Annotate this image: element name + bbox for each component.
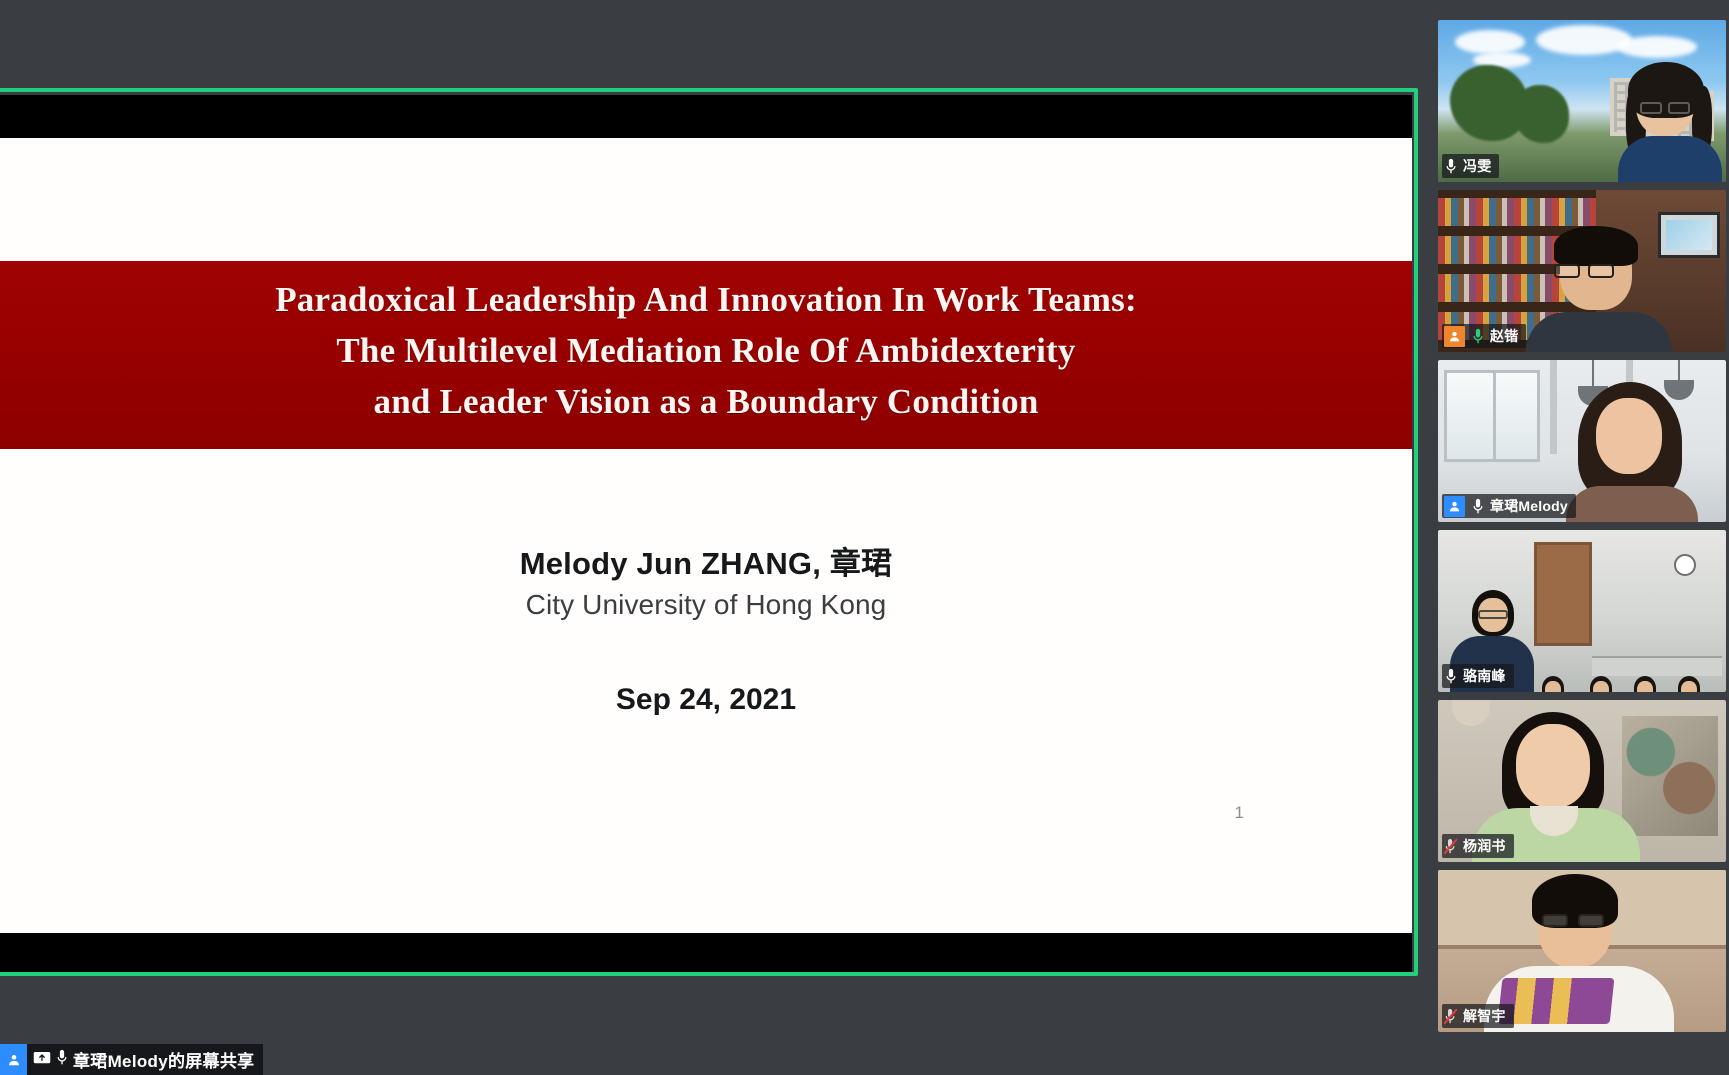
share-pill-body: 章珺Melody的屏幕共享 [27,1044,263,1075]
participant-nameplate: 章珺Melody [1442,494,1576,518]
microphone-muted-icon [1442,1006,1459,1026]
participant-tile[interactable]: 章珺Melody [1438,360,1726,522]
participant-tile[interactable]: 骆南峰 [1438,530,1726,692]
person-icon [1444,496,1465,517]
participant-nameplate: 骆南峰 [1442,664,1514,688]
participant-name: 骆南峰 [1463,666,1506,686]
screen-share-status-bar[interactable]: 章珺Melody的屏幕共享 [0,1044,263,1075]
microphone-icon [1469,496,1486,516]
participant-tile[interactable]: 杨润书 [1438,700,1726,862]
microphone-muted-icon [1442,836,1459,856]
share-pill-label: 章珺Melody的屏幕共享 [73,1047,254,1072]
participant-name: 解智宇 [1463,1006,1506,1026]
participant-tile[interactable]: 冯雯 [1438,20,1726,182]
person-icon [0,1044,27,1075]
microphone-icon [1442,666,1459,686]
participant-name: 冯雯 [1463,156,1491,176]
participant-nameplate: 赵锴 [1442,324,1526,348]
microphone-icon [1442,156,1459,176]
participant-tile[interactable]: 解智宇 [1438,870,1726,1032]
shared-screen-stage[interactable]: Paradoxical Leadership And Innovation In… [0,0,1435,1075]
participant-nameplate: 解智宇 [1442,1004,1514,1028]
participant-name: 赵锴 [1490,326,1518,346]
microphone-icon [56,1049,68,1071]
participant-name: 杨润书 [1463,836,1506,856]
screen-share-green-border [0,88,1418,976]
participant-tile[interactable]: 赵锴 [1438,190,1726,352]
participant-nameplate: 冯雯 [1442,154,1499,178]
participant-filmstrip[interactable]: 冯雯 [1435,0,1729,1075]
participant-nameplate: 杨润书 [1442,834,1514,858]
participant-name: 章珺Melody [1490,496,1568,516]
microphone-icon [1469,326,1486,346]
zoom-meeting-window: Paradoxical Leadership And Innovation In… [0,0,1729,1075]
person-icon [1444,326,1465,347]
screen-share-icon [33,1050,51,1070]
